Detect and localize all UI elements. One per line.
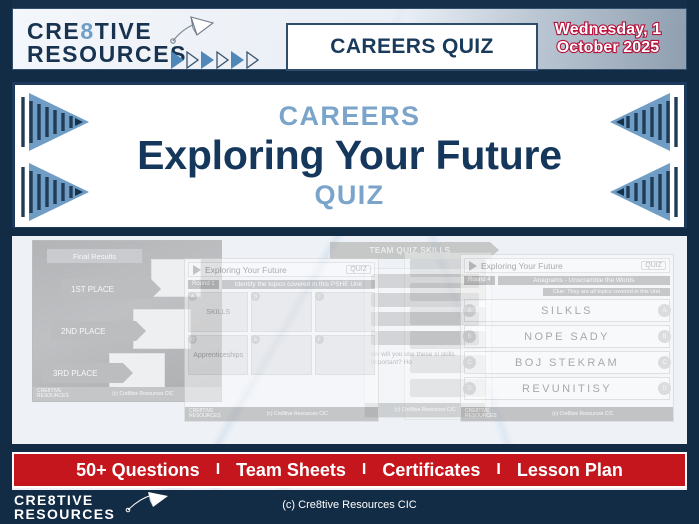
- topic-cell-label: E: [251, 335, 260, 344]
- topic-cell[interactable]: B: [251, 292, 311, 332]
- preview-slide-identify-topics[interactable]: Exploring Your Future QUIZ Round 1 Ident…: [184, 258, 379, 422]
- anagram-row-label-right: D: [658, 382, 671, 395]
- topic-cell-label: F: [315, 335, 324, 344]
- date-line-1: Wednesday, 1: [544, 21, 672, 39]
- chevron-arrow-icon: [586, 91, 682, 153]
- feature-item-team-sheets: Team Sheets: [220, 460, 362, 481]
- slide-footer-copyright: (c) Cre8tive Resources CIC: [112, 391, 173, 397]
- anagram-row-label-left: A: [463, 304, 476, 317]
- brand-logo-tive: TIVE: [95, 18, 153, 44]
- topic-cell-text: SKILLS: [206, 309, 230, 316]
- round-number: Round 1: [188, 280, 219, 289]
- arrow-triangle-row: [171, 51, 259, 69]
- slide-header: Exploring Your Future QUIZ: [464, 258, 670, 273]
- anagram-row-label-left: D: [463, 382, 476, 395]
- topic-cell-label: A: [188, 292, 197, 301]
- triangle-filled-icon: [231, 51, 244, 69]
- place-label-third: 3RD PLACE: [43, 363, 123, 383]
- title-main: Exploring Your Future: [137, 134, 562, 177]
- topic-cell-text: Apprenticeships: [193, 352, 243, 359]
- round-bar: Round 1 Identify the topics covered in t…: [188, 280, 375, 289]
- poster-root: CRE8TIVE RESOURCES CAREERS QUIZ: [0, 0, 699, 524]
- slide-footer-logo: CRE8TIVERESOURCES: [37, 389, 69, 399]
- topic-image-grid: ASKILLS B C DApprenticeships E F: [188, 292, 375, 375]
- chevron-decor-right: [586, 85, 682, 227]
- final-results-title: Final Results: [47, 249, 142, 263]
- slide-footer-copyright: (c) Cre8tive Resources CIC: [267, 411, 328, 417]
- anagram-row[interactable]: B NOPE SADY B: [464, 325, 670, 348]
- triangle-outline-icon: [186, 51, 199, 69]
- anagram-word: REVUNITISY: [522, 383, 612, 395]
- title-text-stack: CAREERS Exploring Your Future QUIZ: [15, 85, 684, 227]
- footer-bar: CRE8TIVE RESOURCES (c) Cre8tive Resource…: [0, 490, 699, 524]
- slide-title: Exploring Your Future: [481, 261, 563, 271]
- header-bar: CRE8TIVE RESOURCES CAREERS QUIZ: [0, 0, 699, 78]
- anagram-row-label-left: B: [463, 330, 476, 343]
- triangle-outline-icon: [246, 51, 259, 69]
- slide-previews-collage: Final Results 1ST PLACE 2ND PLACE 3RD PL…: [12, 234, 687, 446]
- anagram-row-label-right: C: [658, 356, 671, 369]
- slide-header: Exploring Your Future QUIZ: [188, 262, 375, 277]
- topic-cell-label: B: [251, 292, 260, 301]
- frame-divider-top: [0, 78, 699, 82]
- date-line-2: October 2025: [544, 39, 672, 57]
- triangle-outline-icon: [216, 51, 229, 69]
- date-badge: Wednesday, 1 October 2025: [544, 21, 672, 56]
- topic-cell[interactable]: ASKILLS: [188, 292, 248, 332]
- topic-cell-label: D: [188, 335, 197, 344]
- feature-item-certificates: Certificates: [366, 460, 496, 481]
- anagram-word: SILKLS: [541, 305, 593, 317]
- main-title-panel: CAREERS Exploring Your Future QUIZ: [12, 82, 687, 230]
- quiz-logo-pill: QUIZ: [346, 265, 371, 274]
- topic-cell-label: C: [315, 292, 324, 301]
- header-panel: CRE8TIVE RESOURCES CAREERS QUIZ: [12, 8, 687, 70]
- anagram-hint: Clue: They are all topics covered in thi…: [543, 288, 670, 296]
- round-bar: Round 4 Anagrams - Unscramble the Words: [464, 276, 670, 285]
- frame-divider-mid: [0, 228, 699, 236]
- place-label-first: 1ST PLACE: [61, 279, 151, 299]
- anagram-row-label-left: C: [463, 356, 476, 369]
- triangle-filled-icon: [171, 51, 184, 69]
- play-triangle-icon: [469, 261, 477, 271]
- brand-logo-eight: 8: [80, 18, 94, 44]
- anagram-word: BOJ STEKRAM: [515, 357, 619, 369]
- anagram-row[interactable]: C BOJ STEKRAM C: [464, 351, 670, 374]
- chevron-arrow-icon: [586, 161, 682, 223]
- anagram-row-label-right: A: [658, 304, 671, 317]
- round-instruction: Identify the topics covered in this PSHE…: [222, 280, 375, 289]
- slide-footer: CRE8TIVERESOURCES (c) Cre8tive Resources…: [185, 407, 378, 421]
- title-eyebrow: CAREERS: [279, 101, 421, 132]
- paper-plane-icon: [153, 15, 215, 49]
- slide-footer-copyright: (c) Cre8tive Resources CIC: [394, 407, 455, 413]
- careers-quiz-title-box: CAREERS QUIZ: [286, 23, 538, 71]
- footer-copyright: (c) Cre8tive Resources CIC: [0, 499, 699, 511]
- slide-footer-logo: CRE8TIVERESOURCES: [189, 409, 221, 419]
- slide-footer: CRE8TIVERESOURCES (c) Cre8tive Resources…: [461, 407, 673, 421]
- feature-item-lesson-plan: Lesson Plan: [501, 460, 639, 481]
- anagram-row[interactable]: D REVUNITISY D: [464, 377, 670, 400]
- slide-footer-copyright: (c) Cre8tive Resources CIC: [552, 411, 613, 417]
- anagram-word: NOPE SADY: [524, 331, 610, 343]
- place-label-second: 2ND PLACE: [51, 321, 136, 341]
- topic-cell[interactable]: E: [251, 335, 311, 375]
- topic-cell[interactable]: F: [315, 335, 375, 375]
- title-subline: QUIZ: [314, 180, 384, 211]
- topic-cell[interactable]: C: [315, 292, 375, 332]
- features-bar: 50+ Questions I Team Sheets I Certificat…: [12, 452, 687, 488]
- slide-title: Exploring Your Future: [205, 265, 287, 275]
- triangle-filled-icon: [201, 51, 214, 69]
- round-instruction: Anagrams - Unscramble the Words: [498, 276, 670, 285]
- round-number: Round 4: [464, 276, 495, 285]
- careers-quiz-title-text: CAREERS QUIZ: [330, 35, 493, 59]
- anagram-row[interactable]: A SILKLS A: [464, 299, 670, 322]
- slide-footer-logo: CRE8TIVERESOURCES: [465, 409, 497, 419]
- play-triangle-icon: [193, 265, 201, 275]
- quiz-logo-pill: QUIZ: [641, 261, 666, 270]
- brand-logo-cre: CRE: [27, 18, 80, 44]
- anagram-row-label-right: B: [658, 330, 671, 343]
- topic-cell[interactable]: DApprenticeships: [188, 335, 248, 375]
- feature-item-questions: 50+ Questions: [60, 460, 216, 481]
- preview-slide-anagrams[interactable]: Exploring Your Future QUIZ Round 4 Anagr…: [460, 254, 674, 422]
